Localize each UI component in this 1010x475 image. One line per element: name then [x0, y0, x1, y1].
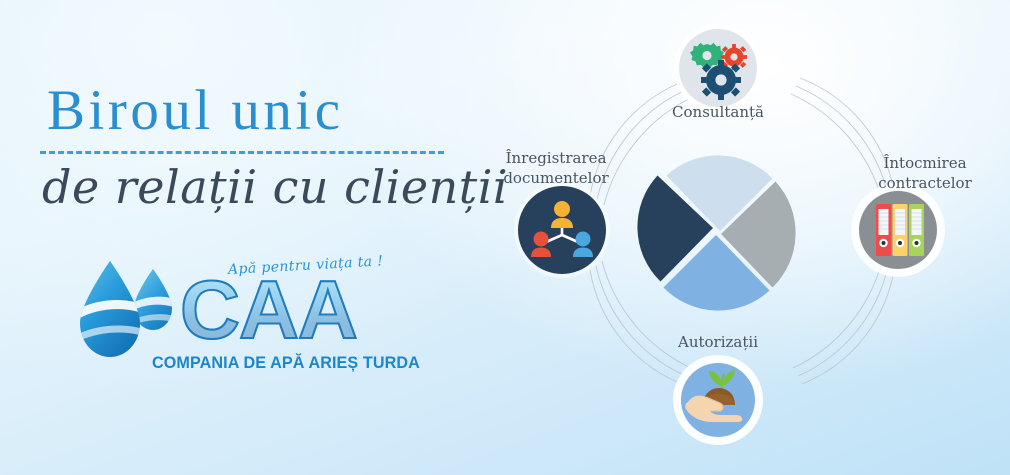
caa-logo: CAA Apă pentru viața ta ! COMPANIA DE AP… [70, 250, 400, 380]
diagram-graphics [470, 0, 1010, 475]
page-subtitle: de relații cu clienții [42, 163, 472, 211]
title-divider [40, 151, 444, 154]
label-line-1: Înregistrarea [466, 148, 646, 168]
banner-canvas: Biroul unic de relații cu clienții [0, 0, 1010, 475]
label-inregistrarea-documentelor: Înregistrarea documentelor [466, 148, 646, 189]
pie-center [637, 155, 795, 310]
logo-acronym: CAA [180, 268, 357, 351]
node-icon-autorizatii[interactable] [673, 355, 763, 445]
label-line-2: documentelor [466, 168, 646, 188]
node-icon-intocmirea-contractelor[interactable] [851, 183, 945, 277]
page-title: Biroul unic [47, 82, 467, 139]
node-icon-consultanta[interactable] [674, 24, 762, 112]
node-icon-inregistrarea-documentelor[interactable] [514, 182, 610, 278]
process-cycle-diagram: Consultanță Înregistrarea documentelor Î… [470, 0, 1010, 475]
label-line-1: Întocmirea [840, 153, 1010, 173]
label-autorizatii: Autorizații [648, 332, 788, 352]
label-line-2: contractelor [840, 173, 1010, 193]
headline-block: Biroul unic de relații cu clienții [0, 0, 500, 475]
logo-company-name: COMPANIA DE APĂ ARIEȘ TURDA [152, 353, 420, 373]
label-intocmirea-contractelor: Întocmirea contractelor [840, 153, 1010, 194]
label-consultanta: Consultanță [648, 102, 788, 122]
